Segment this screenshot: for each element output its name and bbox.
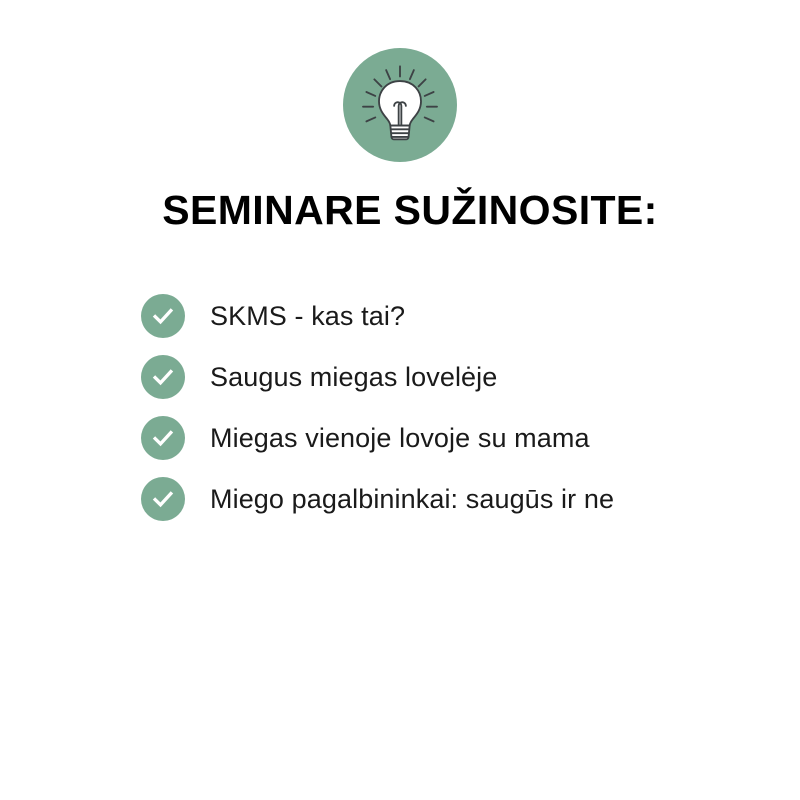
check-badge	[141, 477, 185, 521]
benefits-checklist: SKMS - kas tai? Saugus miegas lovelėje M…	[141, 294, 761, 521]
page-title: SEMINARE SUŽINOSITE:	[0, 186, 800, 234]
check-badge	[141, 416, 185, 460]
list-item-label: Miego pagalbininkai: saugūs ir ne	[210, 483, 614, 515]
list-item: Saugus miegas lovelėje	[141, 355, 761, 399]
lightbulb-badge	[343, 48, 457, 162]
check-badge	[141, 355, 185, 399]
list-item-label: Miegas vienoje lovoje su mama	[210, 422, 590, 454]
check-icon	[150, 486, 176, 512]
check-badge	[141, 294, 185, 338]
lightbulb-icon	[358, 63, 442, 147]
list-item-label: SKMS - kas tai?	[210, 300, 405, 332]
check-icon	[150, 303, 176, 329]
list-item: SKMS - kas tai?	[141, 294, 761, 338]
poster-canvas: SEMINARE SUŽINOSITE: SKMS - kas tai? Sau…	[0, 0, 800, 800]
list-item: Miegas vienoje lovoje su mama	[141, 416, 761, 460]
list-item-label: Saugus miegas lovelėje	[210, 361, 497, 393]
check-icon	[150, 364, 176, 390]
check-icon	[150, 425, 176, 451]
list-item: Miego pagalbininkai: saugūs ir ne	[141, 477, 761, 521]
